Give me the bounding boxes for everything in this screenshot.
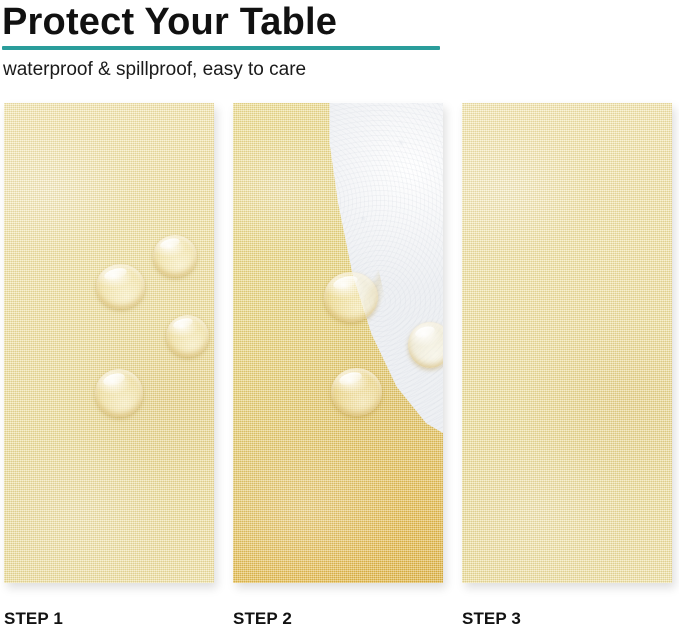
step-label-3: STEP 3	[462, 609, 521, 629]
step-1-image-panel	[4, 103, 214, 583]
water-droplet	[166, 315, 209, 357]
water-droplet	[331, 368, 382, 416]
title-underline-rule	[2, 46, 440, 50]
water-droplet	[324, 272, 378, 322]
page-subtitle: waterproof & spillproof, easy to care	[3, 57, 306, 83]
page-title: Protect Your Table	[2, 0, 337, 45]
step-3-image-panel	[462, 103, 672, 583]
step-label-2: STEP 2	[233, 609, 292, 629]
fabric-surface	[462, 103, 672, 583]
water-droplet	[153, 235, 197, 277]
water-droplet	[96, 264, 145, 309]
water-droplet	[95, 369, 143, 417]
step-label-1: STEP 1	[4, 609, 63, 629]
step-2-image-panel	[233, 103, 443, 583]
